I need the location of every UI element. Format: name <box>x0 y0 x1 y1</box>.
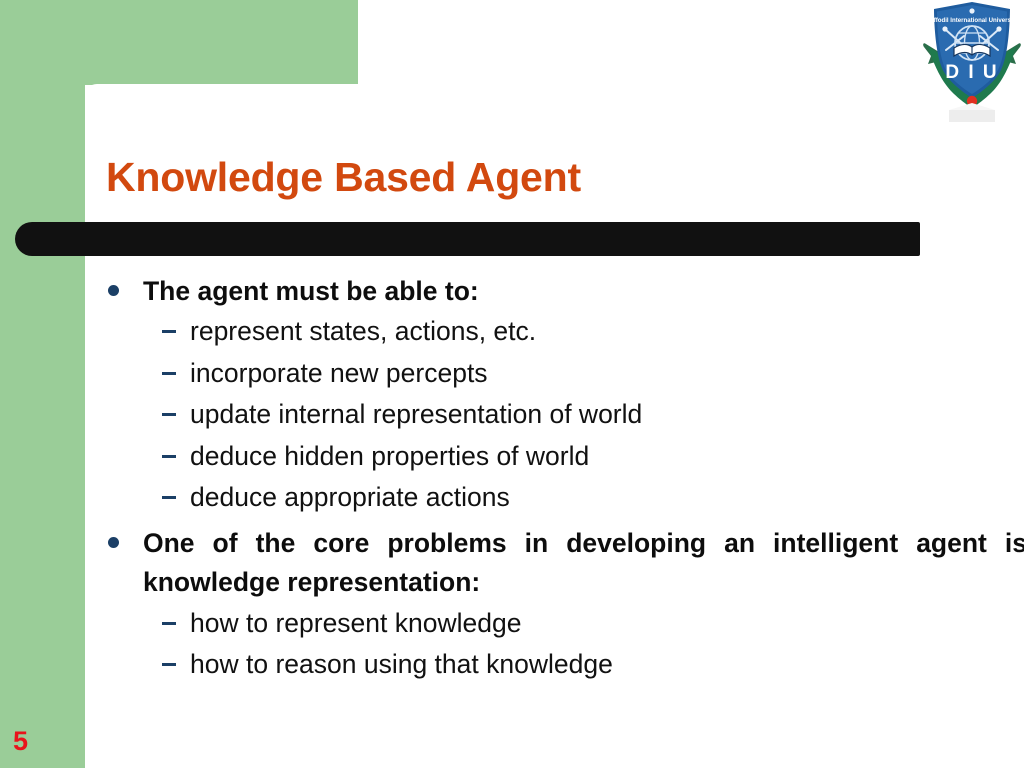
dash-icon <box>162 663 176 666</box>
sub-bullet-item: deduce hidden properties of world <box>104 436 994 477</box>
sub-bullet-label: how to represent knowledge <box>190 608 521 638</box>
bullet-label: One of the core problems in developing a… <box>143 528 1024 597</box>
sub-bullet-label: deduce hidden properties of world <box>190 441 589 471</box>
page-title: Knowledge Based Agent <box>106 156 866 199</box>
sub-bullet-item: represent states, actions, etc. <box>104 311 994 352</box>
dash-icon <box>162 496 176 499</box>
sub-bullet-label: incorporate new percepts <box>190 358 488 388</box>
dash-icon <box>162 330 176 333</box>
slide-canvas: Daffodil International University D I U <box>0 0 1024 768</box>
sub-bullet-label: represent states, actions, etc. <box>190 316 536 346</box>
title-rule-bar <box>15 222 920 256</box>
sub-bullet-label: deduce appropriate actions <box>190 482 510 512</box>
sub-bullet-item: deduce appropriate actions <box>104 477 994 518</box>
bullet-dot-icon <box>108 537 119 548</box>
slide-body: The agent must be able to: represent sta… <box>104 272 994 686</box>
sub-bullet-list: how to represent knowledge how to reason… <box>104 603 994 686</box>
bullet-label: The agent must be able to: <box>143 276 479 306</box>
sub-bullet-list: represent states, actions, etc. incorpor… <box>104 311 994 518</box>
sub-bullet-label: update internal representation of world <box>190 399 642 429</box>
sub-bullet-item: how to reason using that knowledge <box>104 644 994 685</box>
sub-bullet-item: how to represent knowledge <box>104 603 994 644</box>
green-accent-left-rail <box>0 0 85 768</box>
dash-icon <box>162 413 176 416</box>
logo-org-name: Daffodil International University <box>926 17 1019 24</box>
dash-icon <box>162 372 176 375</box>
dash-icon <box>162 622 176 625</box>
bullet-dot-icon <box>108 285 119 296</box>
logo-monogram: D I U <box>945 62 998 83</box>
bullet-item: The agent must be able to: <box>104 272 994 311</box>
page-number: 5 <box>13 726 28 757</box>
sub-bullet-item: incorporate new percepts <box>104 353 994 394</box>
bullet-item: One of the core problems in developing a… <box>104 524 1024 603</box>
daffodil-international-university-logo: Daffodil International University D I U <box>922 0 1022 122</box>
sub-bullet-item: update internal representation of world <box>104 394 994 435</box>
sub-bullet-label: how to reason using that knowledge <box>190 649 613 679</box>
dash-icon <box>162 455 176 458</box>
